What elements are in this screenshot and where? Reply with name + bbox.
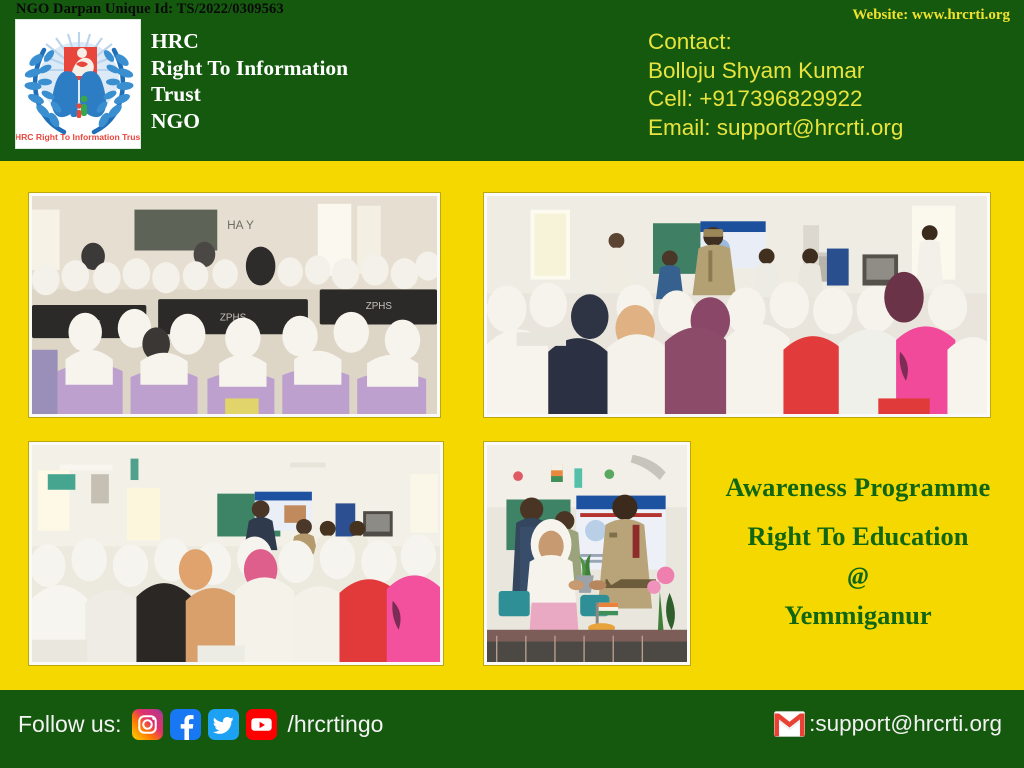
hrc-logo: HRC Right To Information Trust [15, 19, 141, 149]
gmail-icon[interactable] [774, 710, 805, 738]
twitter-icon[interactable] [208, 709, 239, 740]
social-handle[interactable]: /hrcrtingo [288, 711, 384, 738]
photo-classroom-girls: HA Y ZPHS [29, 193, 440, 417]
caption-line-2: Right To Education [700, 519, 1016, 553]
svg-text:HA Y: HA Y [227, 219, 254, 232]
contact-block: Contact: Bolloju Shyam Kumar Cell: +9173… [648, 28, 903, 142]
svg-text:ZPHS: ZPHS [366, 301, 393, 312]
ngo-darpan-id: NGO Darpan Unique Id: TS/2022/0309563 [16, 1, 284, 18]
instagram-icon[interactable] [132, 709, 163, 740]
photo-hall-officer-speech [484, 193, 990, 417]
contact-person: Bolloju Shyam Kumar [648, 57, 903, 86]
follow-us-label: Follow us: [18, 711, 122, 738]
photo-sapling-handover [484, 442, 690, 665]
contact-label: Contact: [648, 28, 903, 57]
photo-hall-officer-speech-image [487, 196, 987, 414]
website-text: Website: www.hrcrti.org [852, 7, 1010, 24]
photo-classroom-girls-image: HA Y ZPHS [32, 196, 437, 414]
email-row[interactable]: :support@hrcrti.org [774, 710, 1002, 738]
footer-bar: Follow us: [0, 690, 1024, 768]
photo-sapling-handover-image [487, 445, 687, 662]
hrc-logo-graphic: HRC Right To Information Trust [16, 20, 141, 149]
poster-body: HA Y ZPHS [0, 161, 1024, 690]
photo-hall-speaker-image [32, 445, 440, 662]
follow-us-row: Follow us: [18, 709, 383, 740]
header-bar: NGO Darpan Unique Id: TS/2022/0309563 [0, 0, 1024, 161]
youtube-icon[interactable] [246, 709, 277, 740]
organisation-name: HRC Right To Information Trust NGO [151, 28, 348, 134]
logo-caption-text: HRC Right To Information Trust [16, 132, 141, 142]
caption-line-1: Awareness Programme [700, 470, 1016, 504]
facebook-icon[interactable] [170, 709, 201, 740]
photo-hall-speaker [29, 442, 443, 665]
caption-location: Yemmiganur [700, 598, 1016, 632]
event-caption: Awareness Programme Right To Education @… [700, 470, 1016, 632]
contact-cell: Cell: +917396829922 [648, 85, 903, 114]
caption-at-symbol: @ [700, 562, 1016, 592]
support-email-text[interactable]: :support@hrcrti.org [809, 711, 1002, 737]
contact-email: Email: support@hrcrti.org [648, 114, 903, 143]
poster-root: NGO Darpan Unique Id: TS/2022/0309563 [0, 0, 1024, 768]
